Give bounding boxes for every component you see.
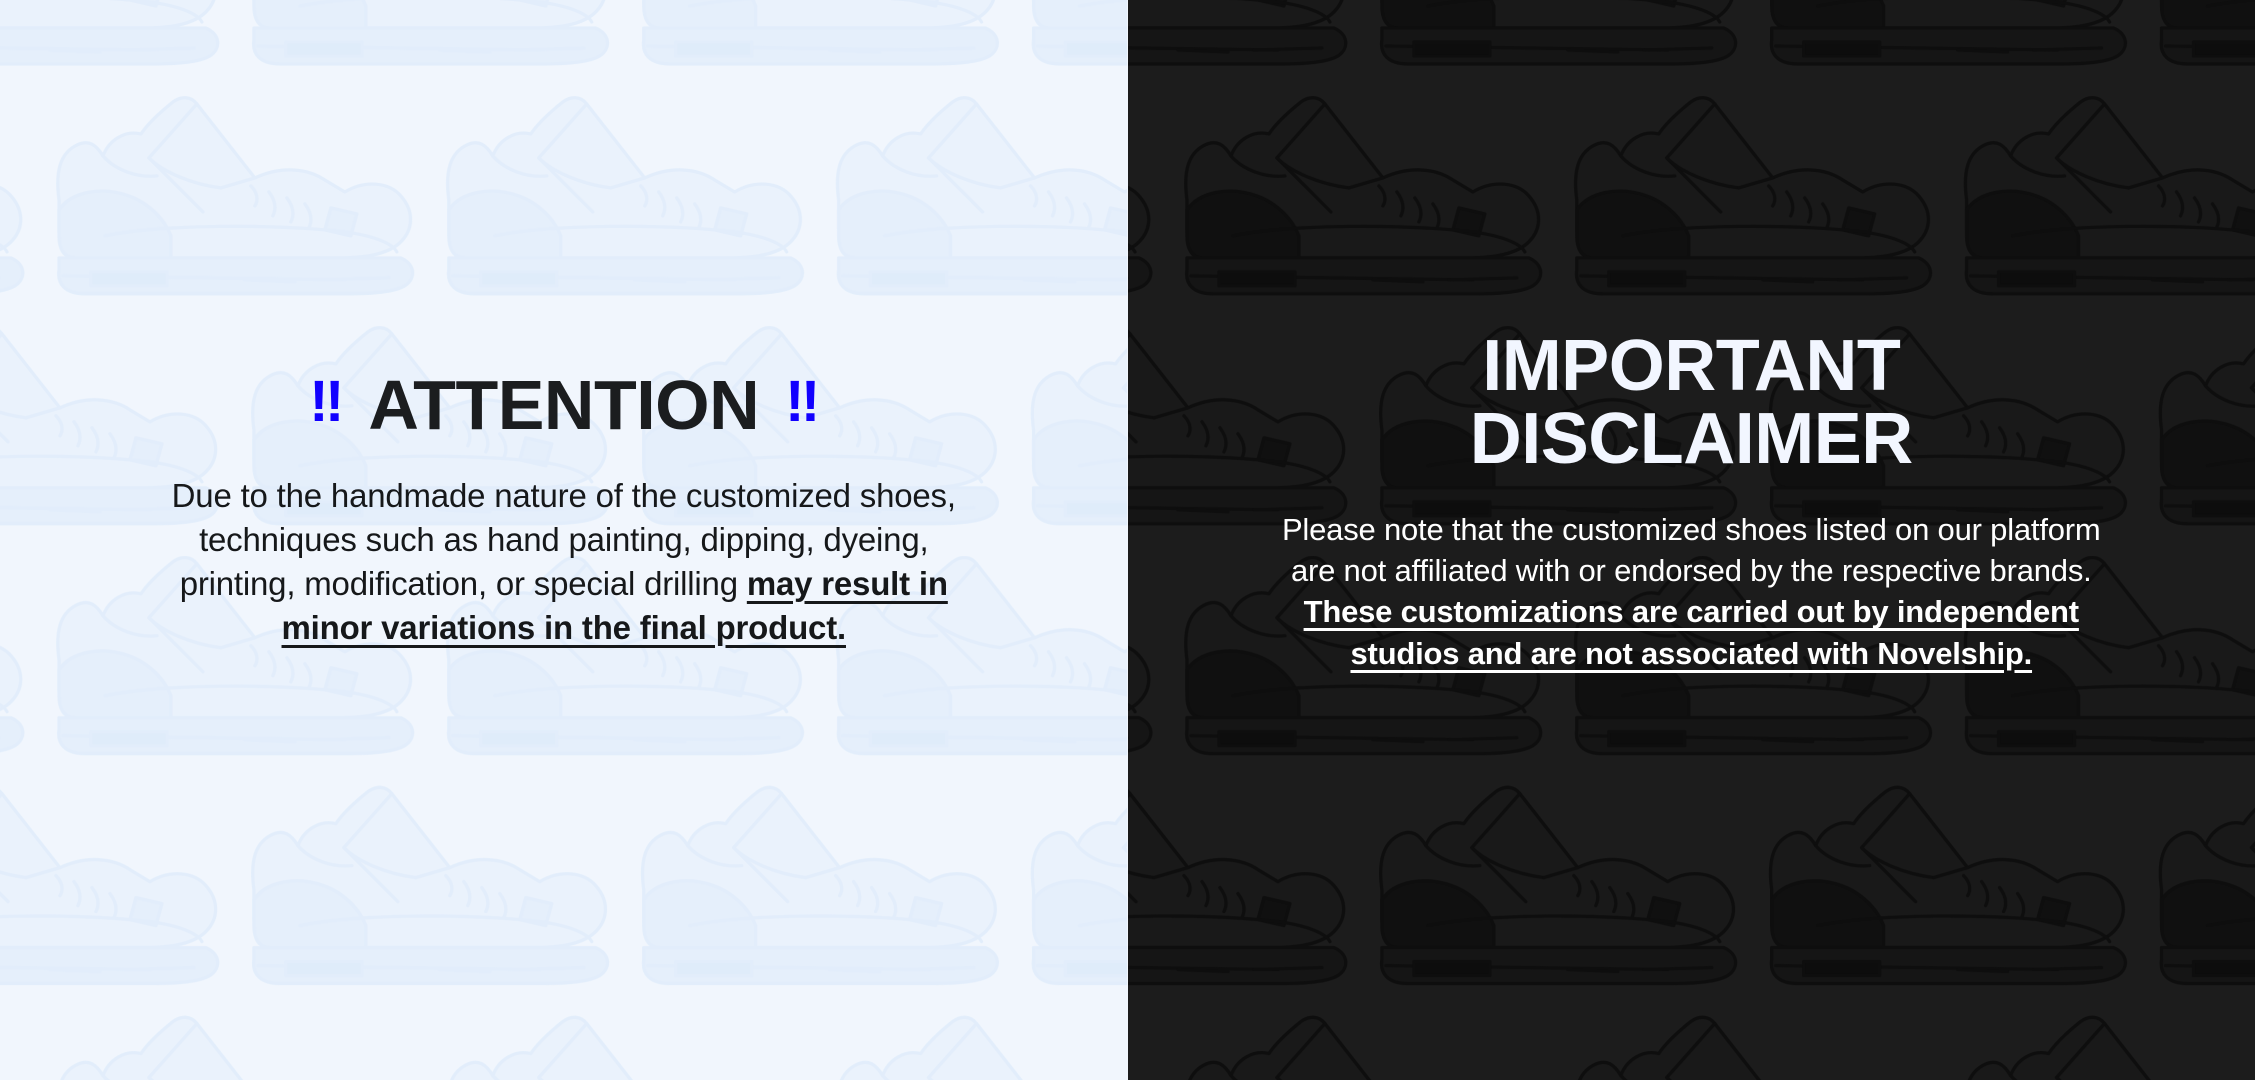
disclaimer-body-emphasis: These customizations are carried out by …: [1304, 594, 2079, 670]
attention-headline-text: ATTENTION: [368, 370, 759, 440]
attention-panel: ‼ ATTENTION ‼ Due to the handmade nature…: [0, 0, 1128, 1080]
attention-body: Due to the handmade nature of the custom…: [169, 474, 959, 650]
double-exclamation-icon-right: ‼: [785, 373, 818, 431]
disclaimer-body-plain: Please note that the customized shoes li…: [1282, 512, 2101, 588]
disclaimer-panel: IMPORTANT DISCLAIMER Please note that th…: [1128, 0, 2255, 1080]
double-exclamation-icon-left: ‼: [309, 373, 342, 431]
disclaimer-headline-line-1: IMPORTANT: [1482, 326, 1900, 406]
attention-headline: ‼ ATTENTION ‼: [309, 370, 818, 440]
disclaimer-headline-line-2: DISCLAIMER: [1470, 399, 1913, 479]
disclaimer-body: Please note that the customized shoes li…: [1276, 509, 2106, 674]
disclaimer-banner: ‼ ATTENTION ‼ Due to the handmade nature…: [0, 0, 2255, 1080]
disclaimer-headline: IMPORTANT DISCLAIMER: [1261, 330, 2121, 477]
